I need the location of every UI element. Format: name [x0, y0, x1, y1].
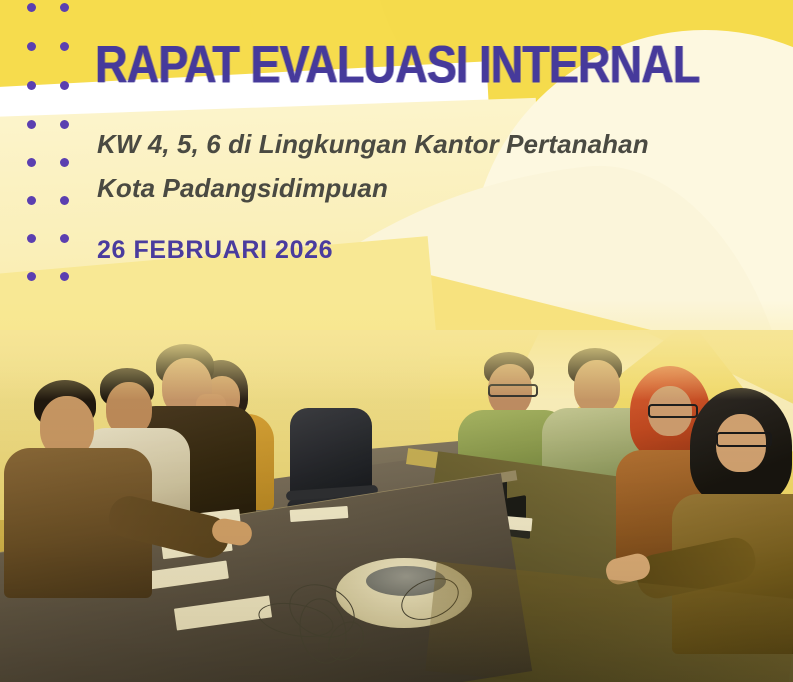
event-date: 26 FEBRUARI 2026: [97, 236, 333, 265]
meeting-room-photo: [0, 330, 793, 682]
event-poster: RAPAT EVALUASI INTERNAL KW 4, 5, 6 di Li…: [0, 0, 793, 682]
subtitle-line-1: KW 4, 5, 6 di Lingkungan Kantor Pertanah…: [97, 122, 737, 166]
page-title: RAPAT EVALUASI INTERNAL: [95, 38, 699, 91]
subtitle-line-2: Kota Padangsidimpuan: [97, 166, 737, 210]
photo-top-fade: [0, 330, 793, 400]
poster-text-block: RAPAT EVALUASI INTERNAL KW 4, 5, 6 di Li…: [0, 0, 793, 300]
poster-subtitle: KW 4, 5, 6 di Lingkungan Kantor Pertanah…: [97, 122, 737, 210]
